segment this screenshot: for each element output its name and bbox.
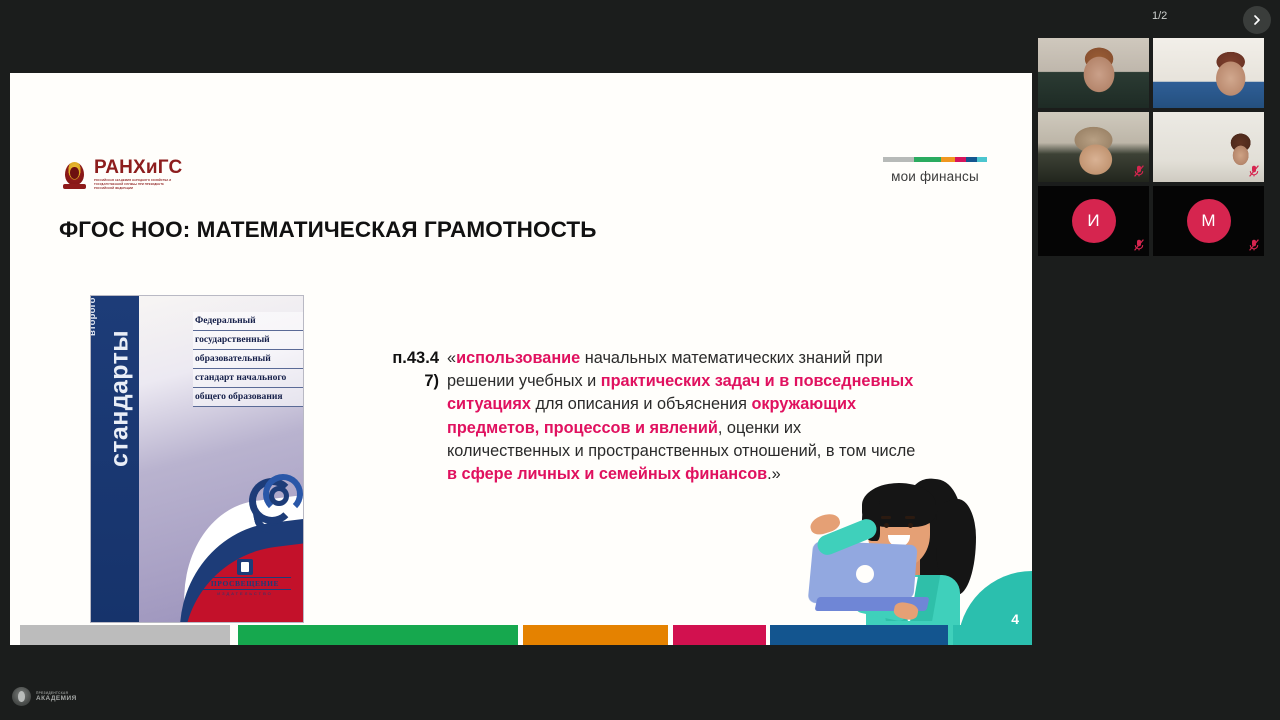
quote-text: «использование начальных математических … xyxy=(447,347,917,486)
book-spine-word: стандарты xyxy=(106,314,135,484)
next-participants-page-button[interactable] xyxy=(1243,6,1271,34)
moi-finansy-color-bar xyxy=(883,157,987,162)
book-title-line: государственный xyxy=(193,331,304,350)
chevron-right-icon xyxy=(1251,14,1263,26)
academy-watermark-line2: АКАДЕМИЯ xyxy=(36,695,77,702)
book-emblem-icon xyxy=(247,474,304,536)
participant-tile[interactable] xyxy=(1153,38,1264,108)
book-publisher: ПРОСВЕЩЕНИЕ ИЗДАТЕЛЬСТВО xyxy=(199,559,291,596)
participant-tile[interactable] xyxy=(1153,112,1264,182)
participant-tiles: ИМ xyxy=(1038,38,1280,260)
quote-highlight: в сфере личных и семейных финансов xyxy=(447,465,767,483)
publisher-subtitle: ИЗДАТЕЛЬСТВО xyxy=(199,591,291,596)
participant-tile[interactable] xyxy=(1038,38,1149,108)
quote-plain: для описания и объяснения xyxy=(531,395,752,413)
academy-watermark: ПРЕЗИДЕНТСКАЯ АКАДЕМИЯ xyxy=(12,687,77,706)
book-title-line: Федеральный xyxy=(193,312,304,331)
coat-of-arms-icon xyxy=(62,161,87,189)
logo-bar-segment xyxy=(966,157,976,162)
meeting-stage: 1/2 РАНХиГС РОССИЙСКАЯ АКАДЕМИЯ НАРОДНОГ… xyxy=(0,0,1280,720)
bottom-strip-segment xyxy=(770,625,948,645)
publisher-logo-icon xyxy=(237,559,253,575)
bottom-strip-segment xyxy=(673,625,766,645)
moi-finansy-logo: мои финансы xyxy=(880,157,990,184)
participant-tile[interactable]: И xyxy=(1038,186,1149,256)
participant-tile-row xyxy=(1038,112,1280,182)
bottom-strip-segment xyxy=(523,625,668,645)
logo-bar-segment xyxy=(914,157,941,162)
microphone-muted-icon xyxy=(1134,165,1144,177)
quote-plain: « xyxy=(447,349,456,367)
ranhigs-logo-subtitle: РОССИЙСКАЯ АКАДЕМИЯ НАРОДНОГО ХОЗЯЙСТВА … xyxy=(94,179,184,191)
participant-tile[interactable] xyxy=(1038,112,1149,182)
participant-avatar: М xyxy=(1187,199,1231,243)
clause-number: п.43.4 xyxy=(361,347,439,370)
microphone-muted-icon xyxy=(1249,239,1259,251)
ranhigs-logo: РАНХиГС РОССИЙСКАЯ АКАДЕМИЯ НАРОДНОГО ХО… xyxy=(62,158,184,191)
participant-tile-row: ИМ xyxy=(1038,186,1280,256)
shared-screen-slide[interactable]: РАНХиГС РОССИЙСКАЯ АКАДЕМИЯ НАРОДНОГО ХО… xyxy=(10,73,1032,645)
microphone-muted-icon xyxy=(1249,165,1259,177)
slide-title: ФГОС НОО: МАТЕМАТИЧЕСКАЯ ГРАМОТНОСТЬ xyxy=(59,217,597,243)
ranhigs-logo-name: РАНХиГС xyxy=(94,158,184,177)
bottom-strip-segment xyxy=(953,625,1032,645)
book-cover-image: Федеральныйгосударственныйобразовательны… xyxy=(90,295,304,623)
clause-reference: п.43.4 7) xyxy=(361,347,439,394)
book-front-panel: Федеральныйгосударственныйобразовательны… xyxy=(139,296,303,622)
logo-bar-segment xyxy=(941,157,955,162)
logo-bar-segment xyxy=(977,157,987,162)
book-title-line: образовательный xyxy=(193,350,304,369)
book-title-lines: Федеральныйгосударственныйобразовательны… xyxy=(193,312,304,407)
logo-bar-segment xyxy=(955,157,966,162)
bottom-strip-segment xyxy=(238,625,518,645)
moi-finansy-logo-name: мои финансы xyxy=(880,169,990,184)
book-title-line: стандарт начального xyxy=(193,369,304,388)
book-spine: стандарты второго поколения xyxy=(91,296,139,622)
meeting-top-bar: 1/2 xyxy=(0,0,1280,34)
quote-plain: .» xyxy=(767,465,781,483)
quote-highlight: использование xyxy=(456,349,580,367)
participants-page-indicator: 1/2 xyxy=(1152,10,1167,22)
book-title-line: общего образования xyxy=(193,388,304,407)
bottom-strip-segment xyxy=(20,625,230,645)
slide-bottom-color-strip xyxy=(10,625,1032,645)
academy-emblem-icon xyxy=(12,687,31,706)
publisher-name: ПРОСВЕЩЕНИЕ xyxy=(199,577,291,590)
microphone-muted-icon xyxy=(1134,239,1144,251)
logo-bar-segment xyxy=(883,157,914,162)
book-spine-subtitle: второго поколения xyxy=(90,295,98,336)
clause-item: 7) xyxy=(361,370,439,393)
participant-tile[interactable]: М xyxy=(1153,186,1264,256)
participant-tile-row xyxy=(1038,38,1280,108)
participant-avatar: И xyxy=(1072,199,1116,243)
